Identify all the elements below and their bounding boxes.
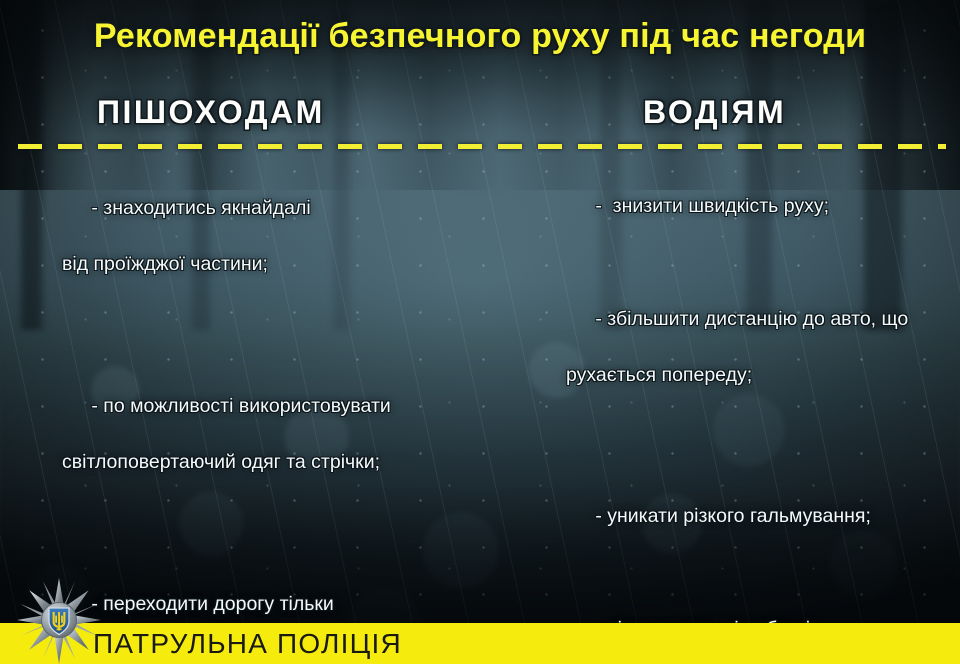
bullet-line-1: - знизити швидкість руху; — [595, 195, 829, 217]
footer-label: ПАТРУЛЬНА ПОЛІЦІЯ — [93, 628, 402, 660]
list-item: - збільшити дистанцію до авто, що рухаєт… — [552, 277, 952, 445]
list-item: - знаходитись якнайдалі від проїжджої ча… — [48, 166, 518, 334]
column-heading-pedestrians: ПІШОХОДАМ — [97, 94, 325, 131]
bullet-line-1: - знаходитись якнайдалі — [91, 197, 310, 219]
bullet-line-1: - збільшити дистанцію до авто, що — [595, 308, 908, 330]
bullet-line-2: світлоповертаючий одяг та стрічки; — [48, 448, 518, 476]
bullet-line-2: рухається попереду; — [552, 361, 952, 389]
drivers-list: - знизити швидкість руху; - збільшити ди… — [552, 164, 952, 664]
page-title: Рекомендації безпечного руху під час нег… — [0, 17, 960, 56]
column-heading-drivers: ВОДІЯМ — [643, 94, 786, 131]
bullet-line-1: - уникати різкого гальмування; — [595, 505, 871, 527]
bullet-line-1: - переходити дорогу тільки — [91, 593, 333, 615]
list-item: - уникати різкого гальмування; — [552, 474, 952, 558]
content-layer: Рекомендації безпечного руху під час нег… — [0, 0, 960, 664]
infographic-poster: Рекомендації безпечного руху під час нег… — [0, 0, 960, 664]
pedestrians-list: - знаходитись якнайдалі від проїжджої ча… — [48, 166, 518, 664]
list-item: - по можливості використовувати світлопо… — [48, 364, 518, 532]
police-badge-icon — [17, 577, 101, 664]
bullet-line-1: - по можливості використовувати — [91, 395, 390, 417]
road-marking-divider — [18, 144, 946, 149]
list-item: - знизити швидкість руху; — [552, 164, 952, 248]
bullet-line-2: від проїжджої частини; — [48, 250, 518, 278]
